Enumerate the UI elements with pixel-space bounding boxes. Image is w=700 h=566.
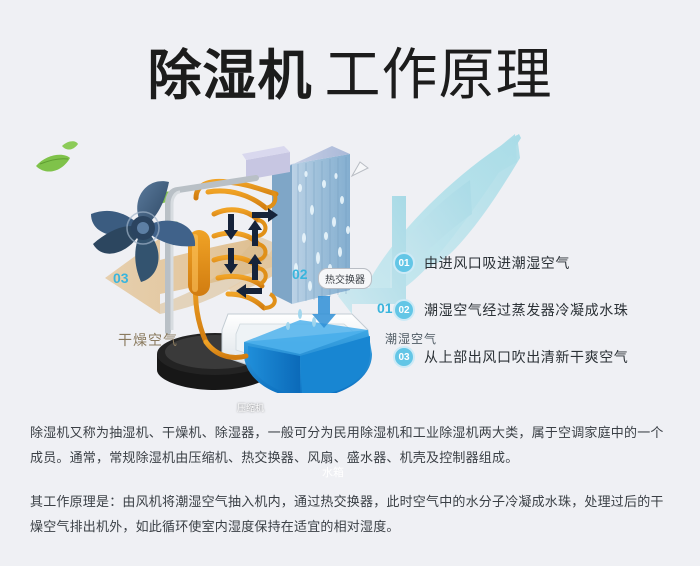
step-badge-02: 02 [393, 299, 415, 321]
label-dry-air: 干燥空气 [118, 330, 178, 350]
step-badge-01: 01 [393, 252, 415, 274]
diagram-badge-01: 01 [377, 300, 393, 316]
label-compressor: 压缩机 [237, 401, 264, 414]
step-item-01: 01 由进风口吸进潮湿空气 [393, 252, 693, 274]
page-title-light: 工作原理 [325, 43, 553, 106]
step-badge-03: 03 [393, 346, 415, 368]
page-title-bold: 除湿机 [148, 46, 313, 106]
label-heat-exchanger: 热交换器 [318, 268, 372, 289]
step-text-02: 潮湿空气经过蒸发器冷凝成水珠 [424, 300, 628, 320]
page-root: 除湿机工作原理 [0, 0, 700, 566]
page-title: 除湿机工作原理 [0, 30, 700, 111]
description-block: 除湿机又称为抽湿机、干燥机、除湿器，一般可分为民用除湿机和工业除湿机两大类，属于… [30, 420, 675, 539]
description-paragraph-1: 除湿机又称为抽湿机、干燥机、除湿器，一般可分为民用除湿机和工业除湿机两大类，属于… [30, 420, 675, 470]
diagram-badge-02: 02 [292, 266, 308, 282]
step-text-03: 从上部出风口吹出清新干爽空气 [424, 347, 628, 367]
step-text-01: 由进风口吸进潮湿空气 [424, 253, 570, 273]
step-item-03: 03 从上部出风口吹出清新干爽空气 [393, 346, 693, 368]
step-list: 01 由进风口吸进潮湿空气 02 潮湿空气经过蒸发器冷凝成水珠 03 从上部出风… [393, 252, 693, 393]
description-paragraph-2: 其工作原理是：由风机将潮湿空气抽入机内，通过热交换器，此时空气中的水分子冷凝成水… [30, 489, 675, 539]
diagram-badge-03: 03 [113, 270, 129, 286]
step-item-02: 02 潮湿空气经过蒸发器冷凝成水珠 [393, 299, 693, 321]
